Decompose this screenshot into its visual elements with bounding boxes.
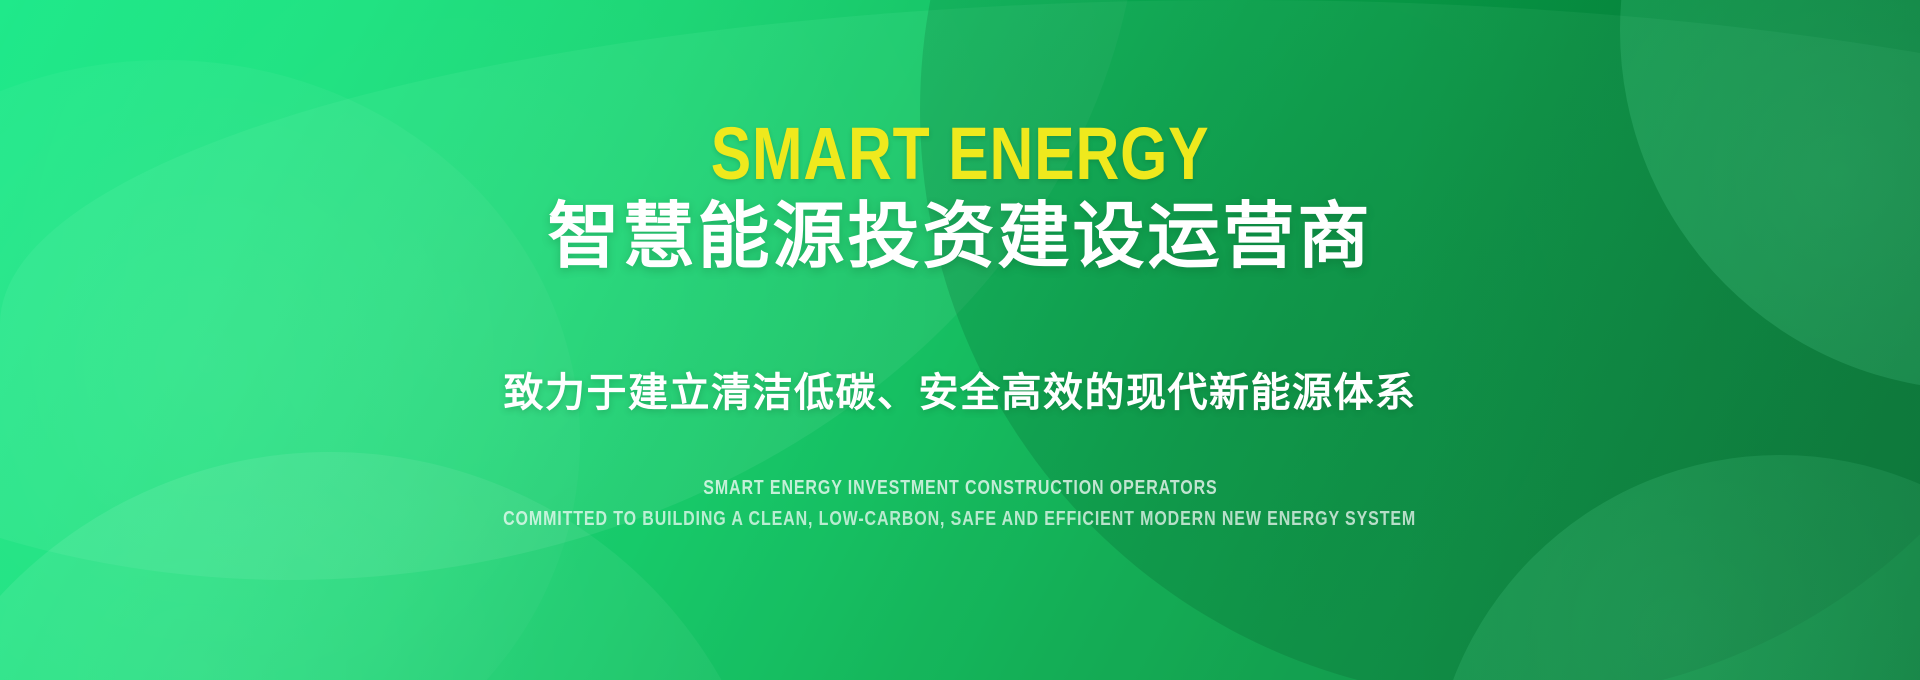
banner-content: SMART ENERGY 智慧能源投资建设运营商 致力于建立清洁低碳、安全高效的… (0, 0, 1920, 680)
subheadline-chinese: 致力于建立清洁低碳、安全高效的现代新能源体系 (504, 369, 1417, 417)
headline-chinese: 智慧能源投资建设运营商 (547, 199, 1372, 277)
subtitle-english-line-2: COMMITTED TO BUILDING A CLEAN, LOW-CARBO… (503, 507, 1416, 532)
headline-english: SMART ENERGY (711, 118, 1210, 189)
hero-banner: SMART ENERGY 智慧能源投资建设运营商 致力于建立清洁低碳、安全高效的… (0, 0, 1920, 680)
subtitle-english-line-1: SMART ENERGY INVESTMENT CONSTRUCTION OPE… (703, 476, 1217, 501)
